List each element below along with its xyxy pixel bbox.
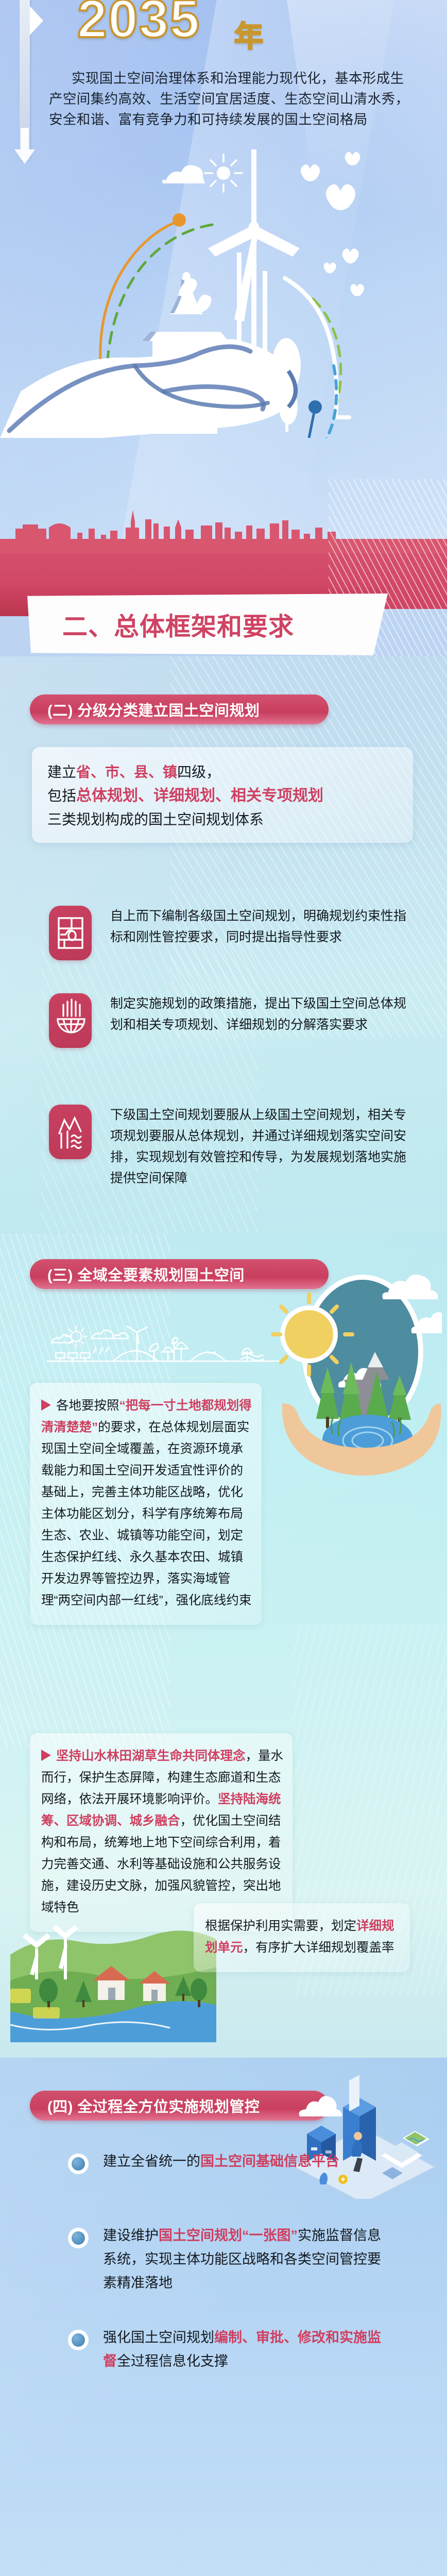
list-item-text: 建立全省统一的国土空间基础信息平台	[103, 2149, 391, 2174]
hand-holding-city-illustration	[0, 149, 447, 438]
list-item: 下级国土空间规划要服从上级国土空间规划，相关专项规划要服从总体规划，并通过详细规…	[0, 1105, 447, 1189]
sub-four-label: (四) 全过程全方位实施规划管控	[47, 2095, 260, 2116]
section-heading-banner: 二、总体框架和要求	[27, 594, 388, 655]
hands-holding-nature-illustration	[267, 1264, 442, 1481]
seg-plain: 强化国土空间规划	[103, 2330, 214, 2345]
year-suffix: 年	[234, 13, 263, 55]
list-item-text: 制定实施规划的政策措施，提出下级国土空间总体规划和相关专项规划、详细规划的分解落…	[110, 993, 406, 1048]
year-title: 2035	[77, 0, 200, 50]
list-item: 制定实施规划的政策措施，提出下级国土空间总体规划和相关专项规划、详细规划的分解落…	[0, 993, 447, 1048]
hero-paragraph: 实现国土空间治理体系和治理能力现代化，基本形成生产空间集约高效、生活空间宜居适度…	[49, 68, 409, 130]
page-title: 二、总体框架和要求	[62, 606, 294, 643]
seg-plain: 各地要按照	[56, 1399, 119, 1413]
seg-plain: 根据保护利用实需要，划定	[205, 1919, 356, 1933]
sub-two-label: (二) 分级分类建立国土空间规划	[47, 699, 260, 720]
card-line-1: 建立省、市、县、镇四级，	[47, 760, 398, 784]
seg-pink: 国土空间规划“一张图”	[159, 2228, 298, 2243]
infographic-page: 2035 年 实现国土空间治理体系和治理能力现代化，基本形成生产空间集约高效、生…	[0, 0, 447, 2576]
village-countryside-illustration	[10, 1888, 216, 2042]
seg-plain: 的要求，在总体规划层面实现国土空间全域覆盖，在资源环境承载能力和国土空间开发适宜…	[41, 1420, 251, 1607]
seg-plain: ，有序扩大详细规划覆盖率	[243, 1941, 394, 1955]
circle-dot-icon	[68, 2228, 89, 2248]
list-item: 自上而下编制各级国土空间规划，明确规划约束性指标和刚性管控要求，同时提出指导性要…	[0, 906, 447, 960]
subsection-two: (二) 分级分类建立国土空间规划 建立省、市、县、镇四级， 包括总体规划、详细规…	[0, 656, 447, 1233]
card-l2-pre: 包括	[47, 788, 76, 804]
list-item: 建立全省统一的国土空间基础信息平台	[0, 2149, 447, 2174]
triangle-bullet-icon	[41, 1750, 51, 1761]
list-item-text: 强化国土空间规划编制、审批、修改和实施监督全过程信息化支撑	[103, 2326, 391, 2373]
mountain-water-icon	[49, 1105, 92, 1159]
seg-plain: 建设维护	[103, 2228, 159, 2243]
card-l1-em: 省、市、县、镇	[76, 764, 177, 780]
subsection-four: (四) 全过程全方位实施规划管控	[0, 2058, 447, 2576]
circle-dot-icon	[68, 2154, 89, 2174]
arrow-notch-decor	[30, 6, 43, 35]
map-plan-grid-icon	[49, 906, 92, 960]
card-l1-pre: 建立	[47, 764, 76, 780]
seg-pink: 国土空间基础信息平台	[200, 2154, 339, 2169]
sub-two-card: 建立省、市、县、镇四级， 包括总体规划、详细规划、相关专项规划 三类规划构成的国…	[32, 747, 413, 843]
seg-plain: 建立全省统一的	[103, 2154, 200, 2169]
isometric-digital-platform-illustration	[285, 2070, 440, 2199]
bullet-card: 根据保护利用实需要，划定详细规划单元，有序扩大详细规划覆盖率	[194, 1903, 410, 1972]
seg-plain: 全过程信息化支撑	[117, 2353, 228, 2369]
bullet-text: 根据保护利用实需要，划定详细规划单元，有序扩大详细规划覆盖率	[205, 1916, 401, 1959]
list-item-text: 下级国土空间规划要服从上级国土空间规划，相关专项规划要服从总体规划，并通过详细规…	[110, 1105, 406, 1189]
bullet-text: 各地要按照“把每一寸土地都规划得清清楚楚”的要求，在总体规划层面实现国土空间全域…	[41, 1395, 252, 1612]
list-item: 强化国土空间规划编制、审批、修改和实施监督全过程信息化支撑	[0, 2326, 447, 2373]
triangle-bullet-icon	[41, 1399, 51, 1411]
sub-two-pill: (二) 分级分类建立国土空间规划	[30, 694, 329, 724]
hero-section: 2035 年 实现国土空间治理体系和治理能力现代化，基本形成生产空间集约高效、生…	[0, 0, 447, 546]
list-item: 建设维护国土空间规划“一张图”实施监督信息系统，实现主体功能区战略和各类空间管控…	[0, 2224, 447, 2295]
subsection-three: (三) 全域全要素规划国土空间	[0, 1233, 447, 2058]
sub-four-pill: (四) 全过程全方位实施规划管控	[30, 2091, 329, 2121]
card-line-3: 三类规划构成的国土空间规划体系	[47, 808, 398, 832]
card-l2-em: 总体规划、详细规划、相关专项规划	[76, 787, 323, 804]
card-l1-post: 四级，	[177, 764, 220, 780]
line-art-eco-landscape	[36, 1321, 294, 1383]
circle-dot-icon	[68, 2330, 89, 2350]
list-item-text: 自上而下编制各级国土空间规划，明确规划约束性指标和刚性管控要求，同时提出指导性要…	[110, 906, 406, 960]
card-line-2: 包括总体规划、详细规划、相关专项规划	[47, 784, 398, 808]
sub-three-label: (三) 全域全要素规划国土空间	[47, 1263, 245, 1285]
list-item-text: 建设维护国土空间规划“一张图”实施监督信息系统，实现主体功能区战略和各类空间管控…	[103, 2224, 391, 2295]
seg-pink: 坚持山水林田湖草生命共同体理念	[56, 1749, 246, 1763]
bullet-card: 各地要按照“把每一寸土地都规划得清清楚楚”的要求，在总体规划层面实现国土空间全域…	[30, 1383, 262, 1625]
globe-radar-icon	[49, 993, 92, 1048]
